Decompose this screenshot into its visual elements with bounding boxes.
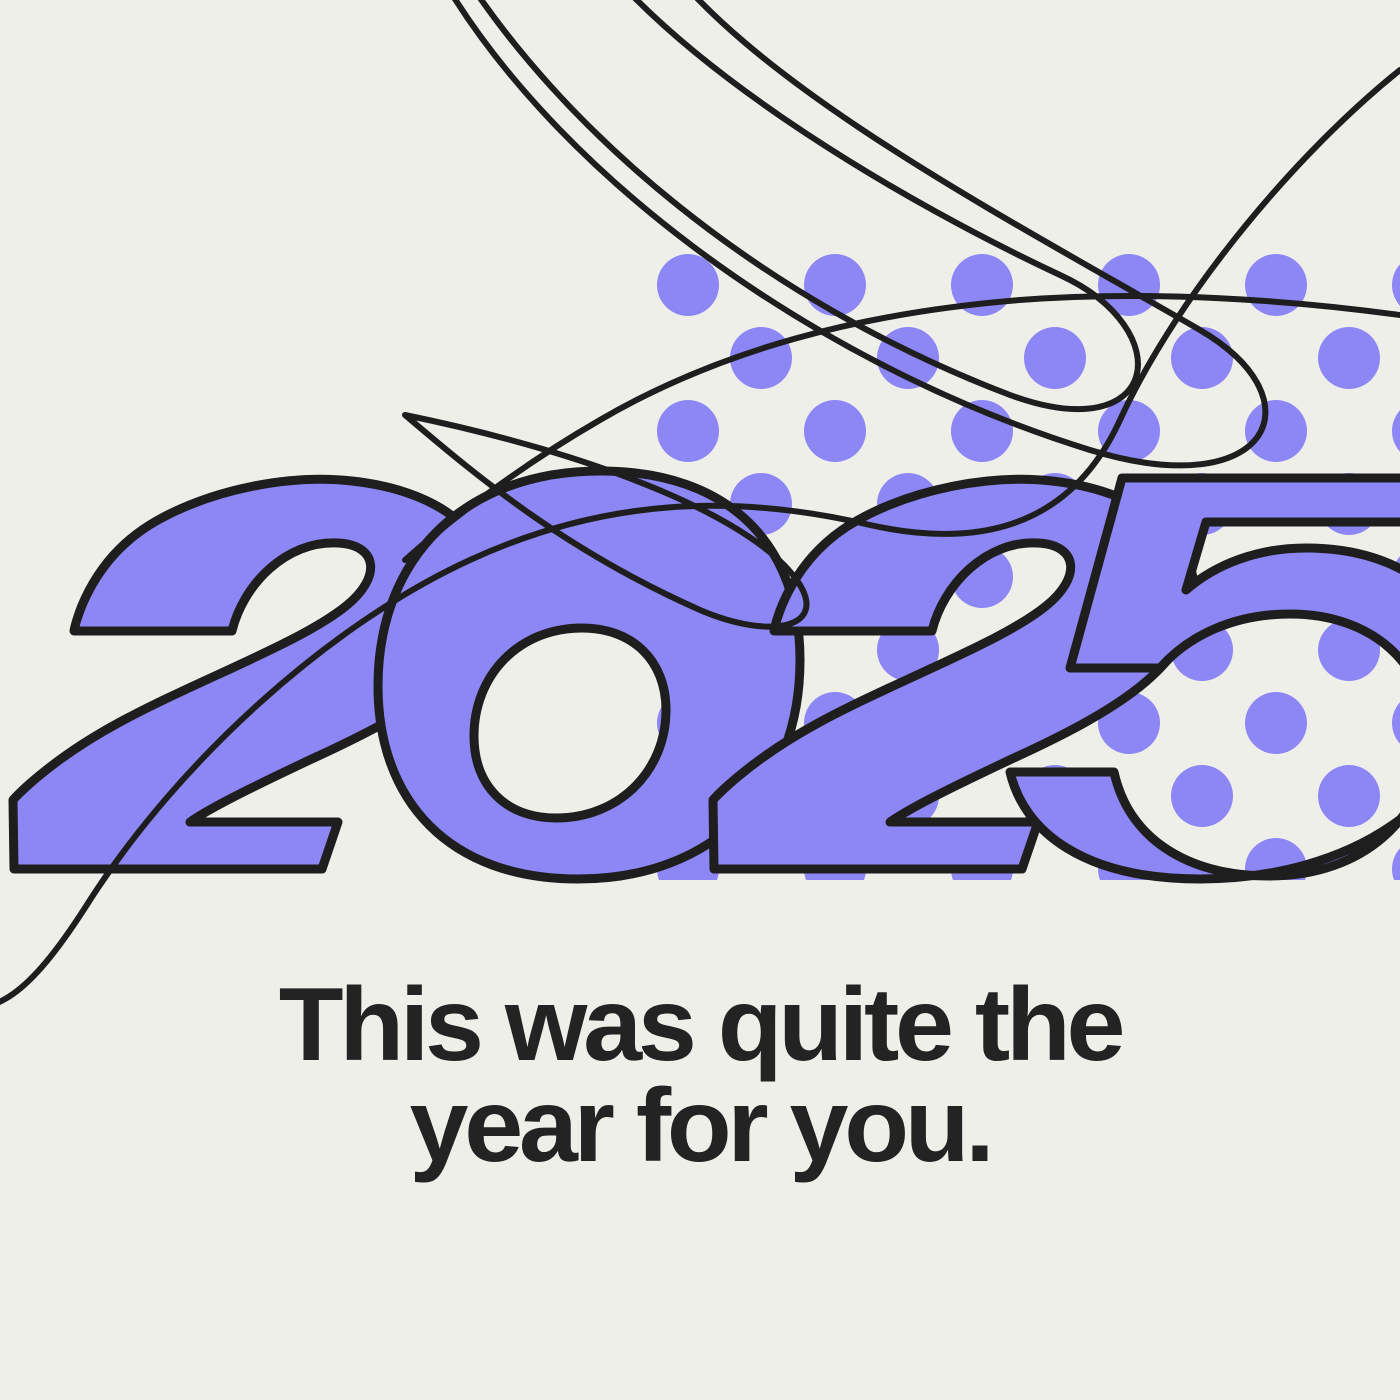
pattern-dot bbox=[1171, 765, 1233, 827]
pattern-dot bbox=[1245, 400, 1307, 462]
pattern-dot bbox=[1171, 327, 1233, 389]
pattern-dot bbox=[657, 254, 719, 316]
year-in-review-card: This was quite the year for you. bbox=[0, 0, 1400, 1400]
pattern-dot bbox=[804, 400, 866, 462]
pattern-dot bbox=[1318, 765, 1380, 827]
pattern-dot bbox=[1245, 692, 1307, 754]
pattern-dot bbox=[1245, 254, 1307, 316]
pattern-dot bbox=[1024, 327, 1086, 389]
pattern-dot bbox=[657, 400, 719, 462]
pattern-dot bbox=[1318, 327, 1380, 389]
poster-artwork bbox=[0, 0, 1400, 1400]
pattern-dot bbox=[804, 254, 866, 316]
page-headline: This was quite the year for you. bbox=[0, 975, 1400, 1177]
